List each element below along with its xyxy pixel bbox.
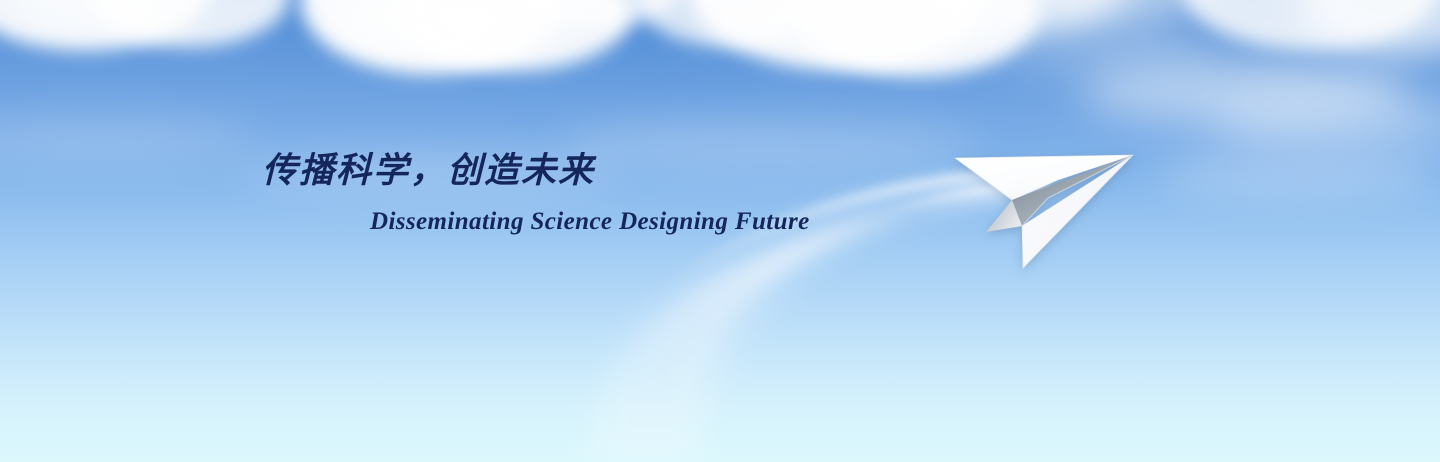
paper-airplane — [940, 140, 1160, 290]
hero-banner: 传播科学，创造未来 Disseminating Science Designin… — [0, 0, 1440, 462]
contrail-swoosh — [0, 0, 1440, 462]
